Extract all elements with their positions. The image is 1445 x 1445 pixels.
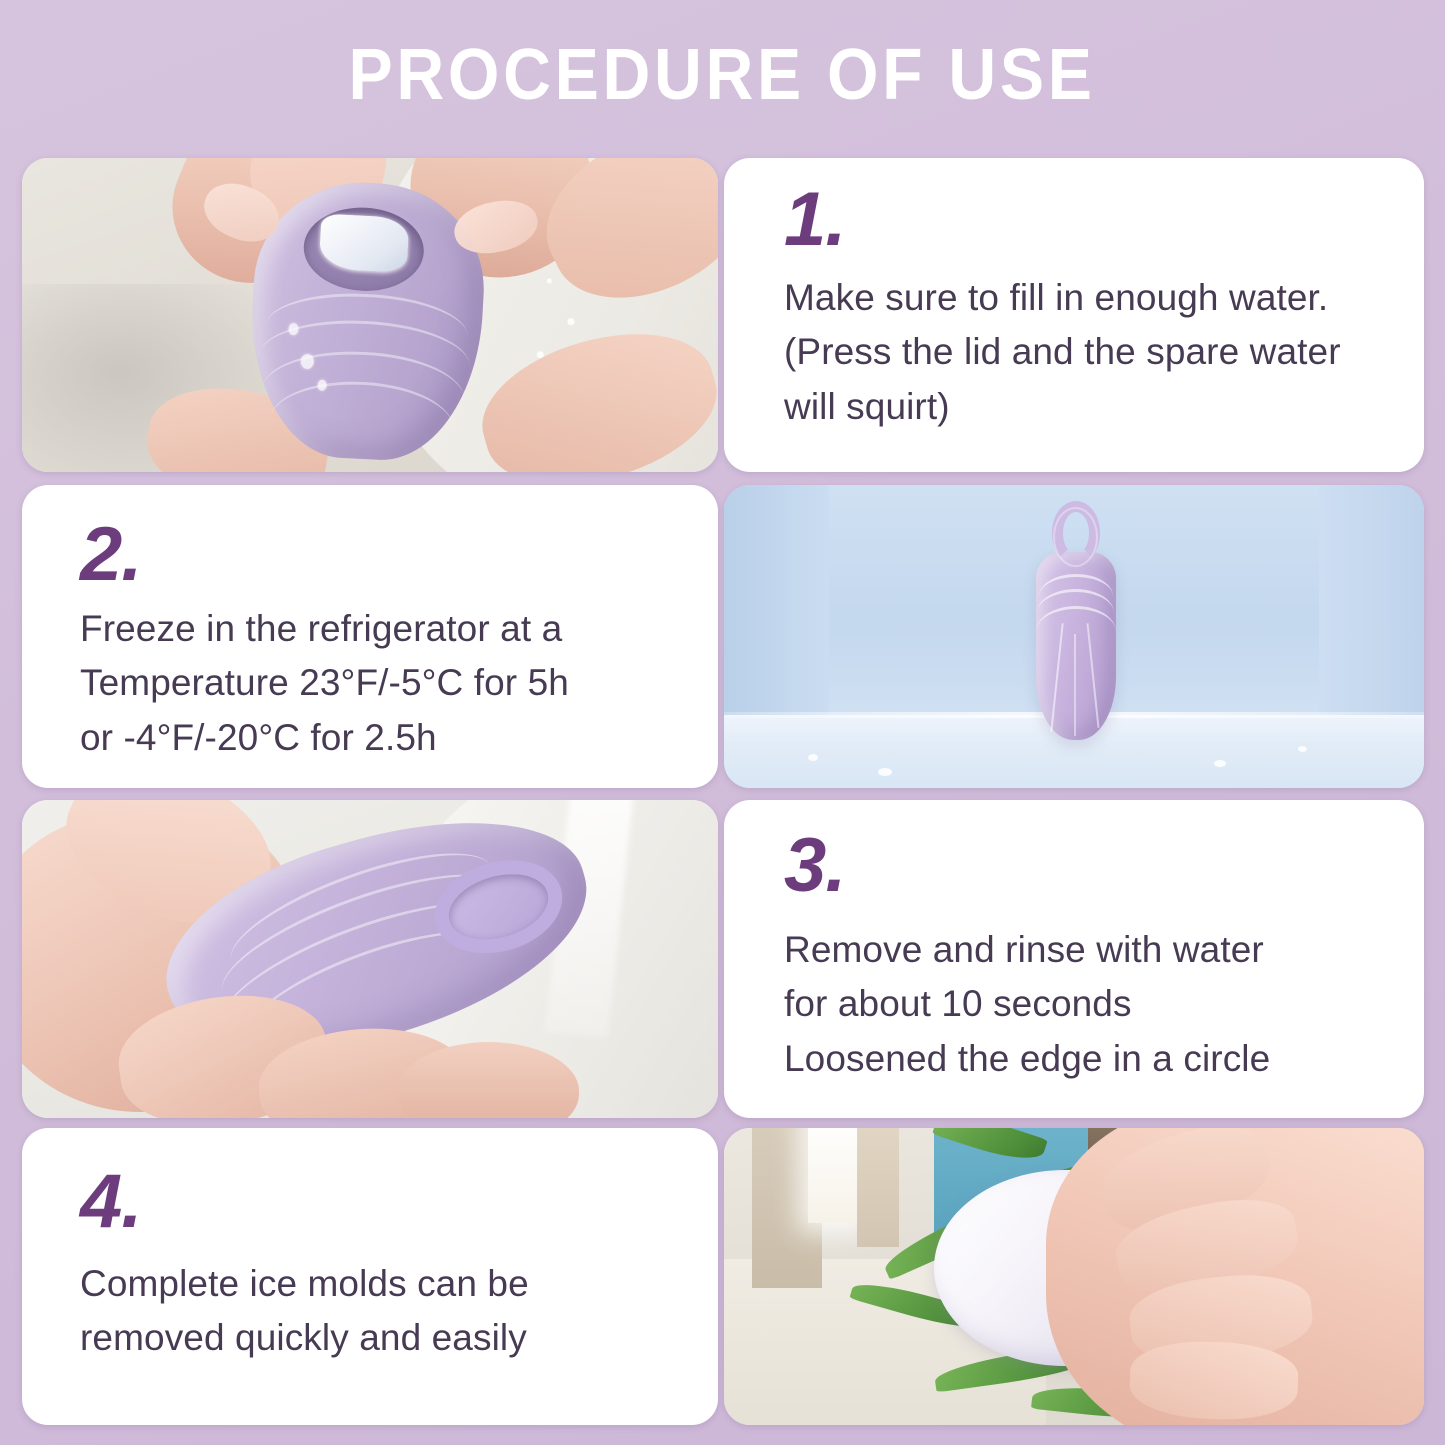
step-number-3: 3. — [784, 830, 1390, 903]
header: PROCEDURE OF USE — [0, 0, 1445, 150]
photo-released-ice-mold — [724, 1128, 1424, 1425]
mold-vein — [1074, 634, 1076, 735]
page-title: PROCEDURE OF USE — [349, 39, 1096, 111]
photo-rinsing-mold — [22, 800, 718, 1118]
water-drop — [317, 380, 327, 391]
step-1-image-card — [22, 158, 718, 472]
ice-mold-product — [1036, 552, 1117, 740]
step-2-image-card — [724, 485, 1424, 788]
window-light — [808, 1128, 857, 1223]
step-row-3: 3. Remove and rinse with water for about… — [22, 800, 1424, 1118]
frost-sparkle — [1214, 760, 1226, 767]
step-text-2: Freeze in the refrigerator at a Temperat… — [80, 602, 684, 765]
photo-hands-filling-mold — [22, 158, 718, 472]
step-4-text-card: 4. Complete ice molds can be removed qui… — [22, 1128, 718, 1425]
photo-mold-in-freezer — [724, 485, 1424, 788]
infographic-page: PROCEDURE OF USE — [0, 0, 1445, 1445]
step-row-1: 1. Make sure to fill in enough water. (P… — [22, 158, 1424, 472]
ice-mold-product — [245, 177, 489, 465]
water-drop — [288, 323, 299, 336]
step-text-4: Complete ice molds can be removed quickl… — [80, 1257, 684, 1366]
step-3-image-card — [22, 800, 718, 1118]
step-number-1: 1. — [784, 184, 1390, 257]
window-post — [857, 1128, 899, 1247]
mold-loop-inner — [1053, 507, 1098, 567]
step-2-text-card: 2. Freeze in the refrigerator at a Tempe… — [22, 485, 718, 788]
step-4-image-card — [724, 1128, 1424, 1425]
step-row-2: 2. Freeze in the refrigerator at a Tempe… — [22, 485, 1424, 788]
step-3-text-card: 3. Remove and rinse with water for about… — [724, 800, 1424, 1118]
step-1-text-card: 1. Make sure to fill in enough water. (P… — [724, 158, 1424, 472]
step-row-4: 4. Complete ice molds can be removed qui… — [22, 1128, 1424, 1425]
step-text-1: Make sure to fill in enough water. (Pres… — [784, 271, 1390, 434]
frost-sparkle — [808, 754, 818, 761]
frost-sparkle — [878, 768, 892, 776]
frost-sparkle — [1298, 746, 1307, 752]
step-text-3: Remove and rinse with water for about 10… — [784, 923, 1390, 1086]
step-number-2: 2. — [80, 519, 684, 592]
step-number-4: 4. — [80, 1166, 684, 1239]
